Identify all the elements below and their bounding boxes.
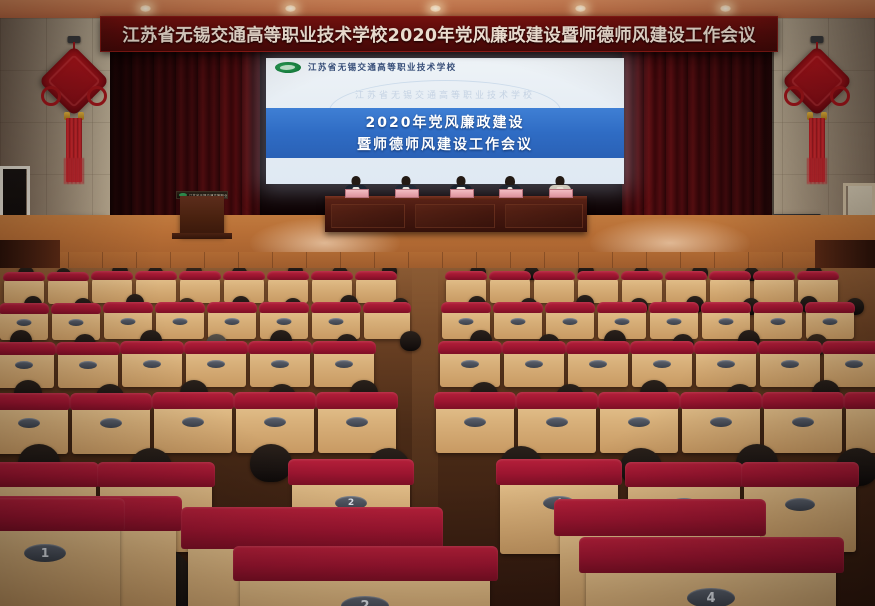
seat-cushion xyxy=(288,459,413,486)
seat-cushion xyxy=(47,272,89,281)
seat-number-plate xyxy=(615,318,630,325)
auditorium-seat[interactable] xyxy=(650,309,698,339)
seat-cushion xyxy=(516,392,599,409)
seat-cushion xyxy=(630,341,694,354)
seat-cushion xyxy=(103,302,154,312)
seat-cushion xyxy=(184,341,248,354)
seat-number-plate xyxy=(710,417,732,427)
seat-cushion xyxy=(844,392,875,409)
seat-cushion xyxy=(649,302,700,312)
seat-cushion xyxy=(434,392,517,409)
seat-cushion xyxy=(502,341,566,354)
seat-cushion xyxy=(694,341,758,354)
seat-number-plate xyxy=(667,318,682,325)
name-placard xyxy=(450,189,474,198)
seat-cushion xyxy=(234,392,317,409)
slide-title-line-2: 暨师德师风建设工作会议 xyxy=(357,134,533,154)
knot-loop-left xyxy=(41,86,61,106)
knot-loop-left xyxy=(784,86,804,106)
seat-cushion xyxy=(152,392,235,409)
seat-number-plate xyxy=(271,360,289,368)
seat-cushion xyxy=(51,303,102,313)
seat-cushion xyxy=(97,462,216,487)
seat-number-plate xyxy=(823,318,838,325)
seat-cushion xyxy=(248,341,312,354)
seat-number-plate xyxy=(785,498,815,511)
seat-number-plate xyxy=(717,360,735,368)
seat-cushion xyxy=(438,341,502,354)
seat-cushion xyxy=(363,302,412,312)
auditorium-seat[interactable] xyxy=(156,309,204,339)
seat-cushion xyxy=(665,271,707,280)
seat-cushion xyxy=(0,393,70,410)
seat-cushion xyxy=(709,271,751,280)
seat-number-plate xyxy=(143,360,161,368)
seat-cushion xyxy=(135,271,177,280)
auditorium-seat[interactable] xyxy=(494,309,542,339)
seat-number-plate xyxy=(771,318,786,325)
ceiling-downlight xyxy=(575,5,586,12)
auditorium-seat[interactable] xyxy=(52,310,100,340)
slide-title-line-1: 2020年党风廉政建设 xyxy=(366,112,525,132)
seat-cushion xyxy=(621,271,663,280)
seat-cushion xyxy=(311,271,353,280)
seat-number-plate xyxy=(781,360,799,368)
seat-cushion xyxy=(533,271,575,280)
seat-number-plate xyxy=(100,418,122,428)
seat-number-plate xyxy=(525,360,543,368)
seat-number-plate xyxy=(69,319,84,326)
auditorium-seat-foreground[interactable]: 2 xyxy=(240,568,490,606)
seat-cushion xyxy=(70,393,153,410)
seat-number-plate xyxy=(511,318,526,325)
auditorium-seat[interactable] xyxy=(504,349,564,387)
auditorium-seat-foreground[interactable]: 4 xyxy=(586,560,836,606)
seat-cushion xyxy=(223,271,265,280)
seat-number-plate xyxy=(79,361,97,369)
seat-number-plate xyxy=(15,361,33,369)
auditorium-seat[interactable] xyxy=(568,349,628,387)
seat-number-plate: 4 xyxy=(687,588,735,606)
seat-cushion xyxy=(181,507,444,549)
audience-seating-area: 2 4 1 2 xyxy=(0,268,875,606)
seat-number-plate xyxy=(18,418,40,428)
knot-tassel xyxy=(66,118,82,182)
seat-cushion xyxy=(625,462,744,487)
school-emblem-icon xyxy=(275,62,301,73)
seat-cushion xyxy=(155,302,206,312)
seat-number-plate xyxy=(845,360,863,368)
auditorium-seat[interactable] xyxy=(534,277,574,303)
auditorium-seat-foreground[interactable]: 1 xyxy=(0,520,120,606)
seat-number-plate: 2 xyxy=(341,596,389,606)
seat-cushion xyxy=(316,392,399,409)
seat-cushion xyxy=(120,341,184,354)
seat-number-plate xyxy=(346,417,368,427)
podium xyxy=(180,196,224,236)
seat-cushion xyxy=(56,342,120,355)
seat-cushion xyxy=(0,462,99,487)
ceiling-downlight xyxy=(430,5,441,12)
seat-cushion xyxy=(493,302,544,312)
seat-cushion xyxy=(311,302,362,312)
projection-screen: 江苏省无锡交通高等职业技术学校 江苏省无锡交通高等职业技术学校 2020年党风廉… xyxy=(266,58,624,184)
auditorium-seat[interactable] xyxy=(754,309,802,339)
auditorium-seat[interactable] xyxy=(846,403,875,453)
seat-cushion xyxy=(355,271,397,280)
seat-number-plate xyxy=(653,360,671,368)
name-placard xyxy=(395,189,419,198)
ceiling-downlight xyxy=(140,5,151,12)
seat-cushion xyxy=(545,302,596,312)
seat-number-plate xyxy=(461,360,479,368)
auditorium-seat[interactable] xyxy=(58,350,118,388)
seat-cushion xyxy=(597,302,648,312)
name-placard xyxy=(499,189,523,198)
seat-cushion xyxy=(91,271,133,280)
seat-number-plate xyxy=(182,417,204,427)
seat-cushion xyxy=(822,341,875,354)
screen-header-text: 江苏省无锡交通高等职业技术学校 xyxy=(308,61,457,73)
seat-cushion xyxy=(312,341,376,354)
auditorium-seat[interactable] xyxy=(518,403,596,453)
knot-loop-right xyxy=(87,86,107,106)
name-placard xyxy=(345,189,369,198)
auditorium-seat[interactable] xyxy=(600,403,678,453)
seat-cushion xyxy=(233,546,498,581)
head-table xyxy=(325,196,587,232)
seat-number-plate xyxy=(792,417,814,427)
seat-number-plate xyxy=(589,360,607,368)
auditorium-seat[interactable] xyxy=(440,349,500,387)
seat-cushion xyxy=(797,271,839,280)
auditorium-seat[interactable] xyxy=(72,404,150,454)
seat-number-plate xyxy=(719,318,734,325)
seat-cushion xyxy=(267,271,309,280)
auditorium-seat[interactable] xyxy=(710,277,750,303)
seat-number-plate xyxy=(17,319,32,326)
name-placard xyxy=(549,189,573,198)
seat-cushion xyxy=(701,302,752,312)
seat-cushion xyxy=(445,271,487,280)
seat-number-plate xyxy=(225,318,240,325)
seat-cushion xyxy=(741,462,860,487)
knot-loop-right xyxy=(830,86,850,106)
seat-cushion xyxy=(758,341,822,354)
seat-cushion xyxy=(762,392,845,409)
table-front-panel xyxy=(331,204,405,228)
seat-number-plate xyxy=(563,318,578,325)
seat-number-plate: 1 xyxy=(24,544,66,562)
auditorium-seat[interactable] xyxy=(632,349,692,387)
seat-cushion xyxy=(207,302,258,312)
seat-cushion xyxy=(753,302,804,312)
screen-watermark-text: 江苏省无锡交通高等职业技术学校 xyxy=(355,88,535,101)
ceiling-downlight xyxy=(285,5,296,12)
auditorium-seat[interactable] xyxy=(122,349,182,387)
seat-cushion xyxy=(259,302,310,312)
screen-header: 江苏省无锡交通高等职业技术学校 xyxy=(266,58,624,76)
seat-cushion xyxy=(598,392,681,409)
auditorium-seat[interactable] xyxy=(356,277,396,303)
knot-tassel xyxy=(809,118,825,182)
table-front-panel xyxy=(415,204,495,228)
seat-number-plate xyxy=(628,417,650,427)
meeting-banner: 江苏省无锡交通高等职业技术学校2020年党风廉政建设暨师德师风建设工作会议 xyxy=(100,16,778,52)
auditorium-seat[interactable] xyxy=(760,349,820,387)
slide-title-band: 2020年党风廉政建设 暨师德师风建设工作会议 xyxy=(266,108,624,158)
seat-cushion xyxy=(0,303,49,313)
auditorium-seat[interactable] xyxy=(754,277,794,303)
meeting-banner-text: 江苏省无锡交通高等职业技术学校2020年党风廉政建设暨师德师风建设工作会议 xyxy=(122,22,756,47)
seat-cushion xyxy=(496,459,621,486)
seat-number-plate xyxy=(459,318,474,325)
seat-cushion xyxy=(554,499,766,535)
chinese-knot-left xyxy=(42,36,106,186)
seat-number-plate xyxy=(546,417,568,427)
auditorium-seat[interactable] xyxy=(312,309,360,339)
seat-cushion xyxy=(489,271,531,280)
auditorium-seat[interactable] xyxy=(436,403,514,453)
seat-number-plate xyxy=(277,318,292,325)
seat-number-plate xyxy=(464,417,486,427)
auditorium-seat[interactable] xyxy=(764,403,842,453)
seat-number-plate xyxy=(329,318,344,325)
seat-cushion xyxy=(577,271,619,280)
audience-head xyxy=(250,444,292,482)
seat-number-plate xyxy=(335,360,353,368)
seat-cushion xyxy=(680,392,763,409)
table-front-panel xyxy=(505,204,583,228)
audience-head xyxy=(400,331,421,351)
auditorium-seat[interactable] xyxy=(250,349,310,387)
seat-number-plate xyxy=(173,318,188,325)
seat-cushion xyxy=(0,342,56,355)
seat-cushion xyxy=(753,271,795,280)
ceiling-downlight xyxy=(720,5,731,12)
auditorium-photo: 江苏省无锡交通高等职业技术学校 江苏省无锡交通高等职业技术学校 2020年党风廉… xyxy=(0,0,875,606)
seat-number-plate xyxy=(207,360,225,368)
seat-cushion xyxy=(179,271,221,280)
auditorium-seat[interactable] xyxy=(154,403,232,453)
auditorium-seat[interactable] xyxy=(318,403,396,453)
seat-cushion xyxy=(566,341,630,354)
podium-base xyxy=(172,233,232,239)
chinese-knot-right xyxy=(785,36,849,186)
seat-cushion xyxy=(805,302,856,312)
seat-cushion xyxy=(441,302,492,312)
seat-cushion xyxy=(3,272,45,281)
seat-cushion xyxy=(0,498,125,530)
auditorium-seat[interactable] xyxy=(696,349,756,387)
seat-number-plate xyxy=(264,417,286,427)
seat-cushion xyxy=(579,537,844,573)
seat-number-plate xyxy=(121,318,136,325)
